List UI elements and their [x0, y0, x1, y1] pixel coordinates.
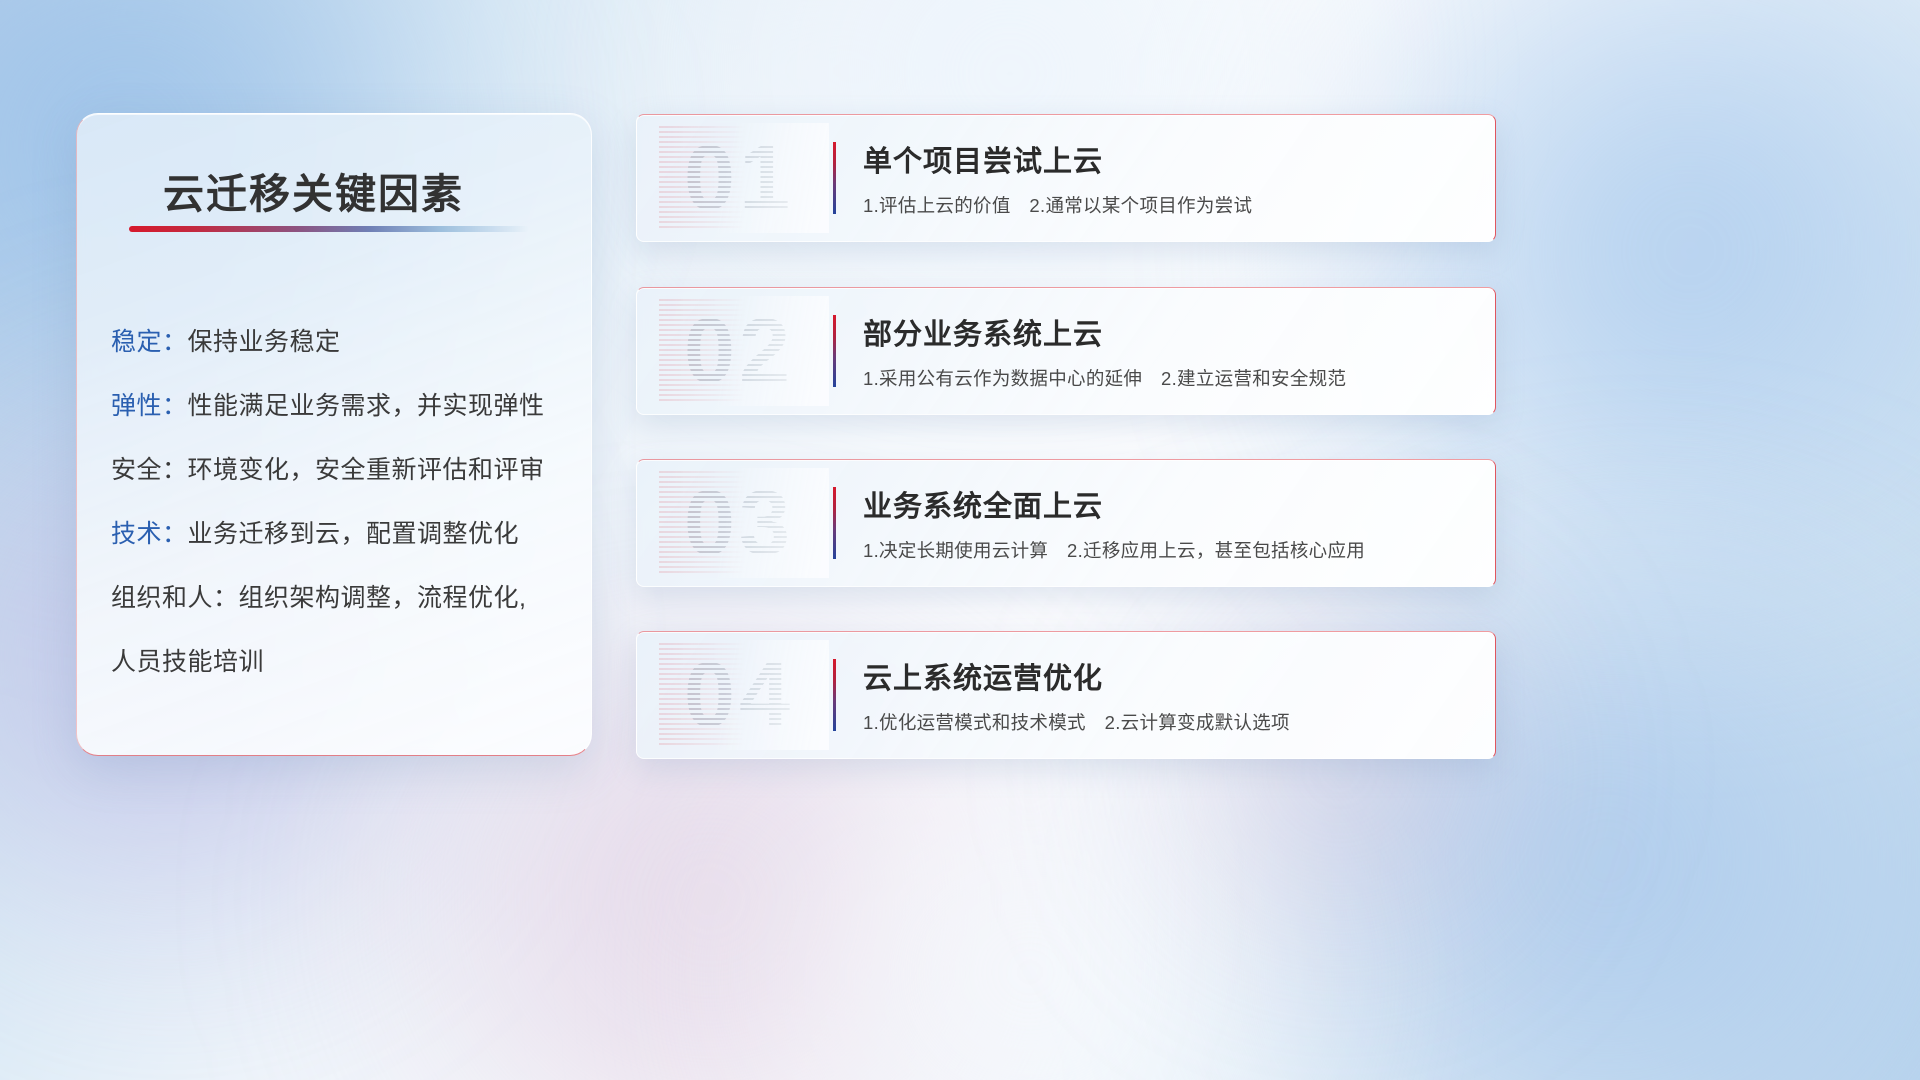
- step-number-03: 03: [659, 471, 819, 575]
- step-subtitle: 1.决定长期使用云计算 2.迁移应用上云，甚至包括核心应用: [863, 537, 1477, 563]
- factor-text: 保持业务稳定: [188, 328, 341, 356]
- factor-label: 稳定：: [111, 328, 188, 356]
- factor-label: 安全：: [111, 456, 188, 484]
- factor-text: 人员技能培训: [111, 648, 264, 676]
- factor-list: 稳定：保持业务稳定 弹性：性能满足业务需求，并实现弹性 安全：环境变化，安全重新…: [111, 310, 573, 694]
- step-title: 业务系统全面上云: [863, 483, 1477, 525]
- step-subtitle: 1.评估上云的价值 2.通常以某个项目作为尝试: [863, 192, 1477, 218]
- factor-item-continuation: 人员技能培训: [111, 630, 573, 694]
- step-card-04[interactable]: 04 云上系统运营优化 1.优化运营模式和技术模式 2.云计算变成默认选项: [636, 631, 1496, 759]
- step-card-01[interactable]: 01 单个项目尝试上云 1.评估上云的价值 2.通常以某个项目作为尝试: [636, 114, 1496, 242]
- step-body: 部分业务系统上云 1.采用公有云作为数据中心的延伸 2.建立运营和安全规范: [835, 288, 1477, 414]
- step-body: 业务系统全面上云 1.决定长期使用云计算 2.迁移应用上云，甚至包括核心应用: [835, 460, 1477, 586]
- factor-item: 安全：环境变化，安全重新评估和评审: [111, 438, 573, 502]
- factor-label: 弹性：: [111, 392, 188, 420]
- factor-text: 性能满足业务需求，并实现弹性: [188, 392, 545, 420]
- factor-text: 环境变化，安全重新评估和评审: [188, 456, 545, 484]
- step-body: 单个项目尝试上云 1.评估上云的价值 2.通常以某个项目作为尝试: [835, 115, 1477, 241]
- factor-label: 技术：: [111, 520, 188, 548]
- factor-item: 组织和人：组织架构调整，流程优化,: [111, 566, 573, 630]
- key-factors-panel: 云迁移关键因素 稳定：保持业务稳定 弹性：性能满足业务需求，并实现弹性 安全：环…: [76, 113, 592, 756]
- step-number-01: 01: [659, 126, 819, 230]
- step-card-02[interactable]: 02 部分业务系统上云 1.采用公有云作为数据中心的延伸 2.建立运营和安全规范: [636, 287, 1496, 415]
- page-title: 云迁移关键因素: [163, 160, 464, 220]
- step-title: 部分业务系统上云: [863, 311, 1477, 353]
- step-title: 云上系统运营优化: [863, 655, 1477, 697]
- factor-item: 稳定：保持业务稳定: [111, 310, 573, 374]
- step-number-04: 04: [659, 643, 819, 747]
- step-title: 单个项目尝试上云: [863, 138, 1477, 180]
- factor-text: 业务迁移到云，配置调整优化: [188, 520, 520, 548]
- step-subtitle: 1.采用公有云作为数据中心的延伸 2.建立运营和安全规范: [863, 365, 1477, 391]
- factor-item: 技术：业务迁移到云，配置调整优化: [111, 502, 573, 566]
- background-blob-accent-pink: [1080, 560, 1600, 980]
- factor-label: 组织和人：: [111, 584, 239, 612]
- step-number-02: 02: [659, 299, 819, 403]
- title-underline-accent: [129, 226, 529, 232]
- factor-text: 组织架构调整，流程优化,: [239, 584, 527, 612]
- step-card-03[interactable]: 03 业务系统全面上云 1.决定长期使用云计算 2.迁移应用上云，甚至包括核心应…: [636, 459, 1496, 587]
- step-subtitle: 1.优化运营模式和技术模式 2.云计算变成默认选项: [863, 709, 1477, 735]
- factor-item: 弹性：性能满足业务需求，并实现弹性: [111, 374, 573, 438]
- step-body: 云上系统运营优化 1.优化运营模式和技术模式 2.云计算变成默认选项: [835, 632, 1477, 758]
